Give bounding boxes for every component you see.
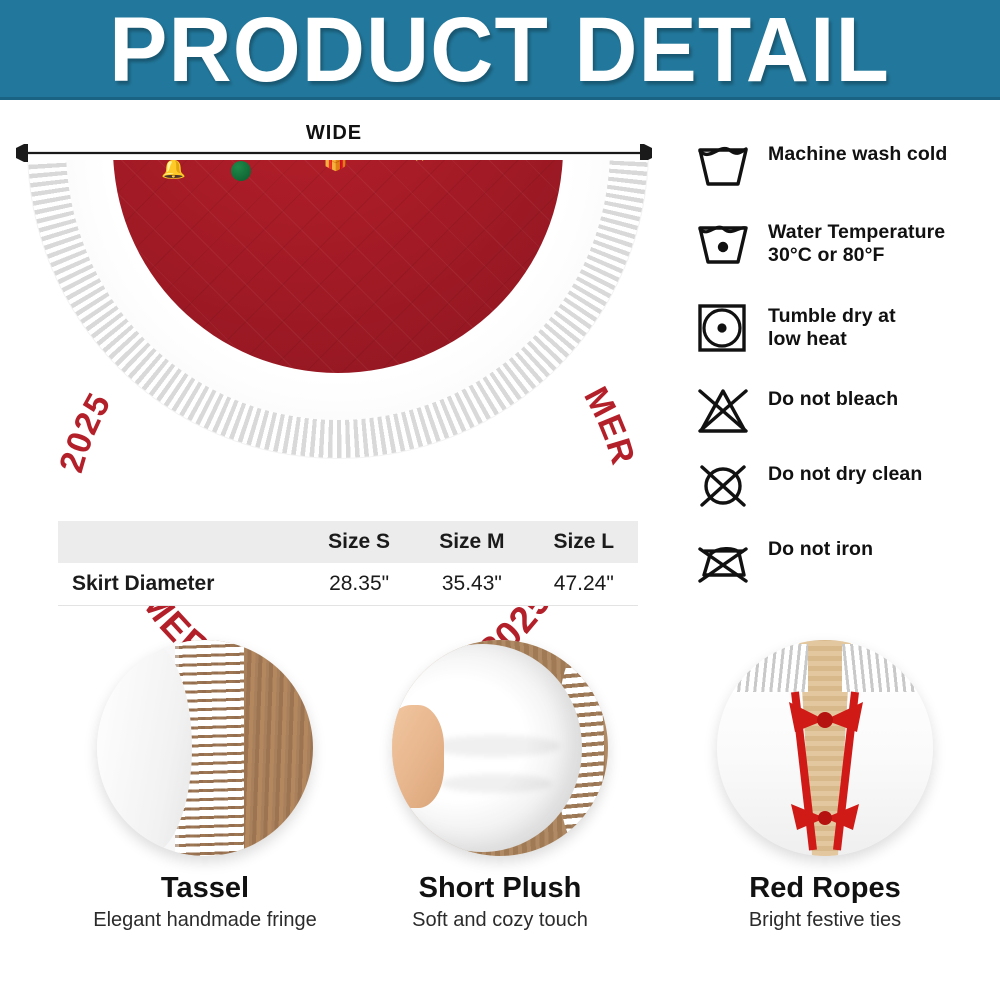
size-table-header: Size S Size M Size L xyxy=(58,521,638,563)
care-label-do-not-bleach: Do not bleach xyxy=(768,385,898,411)
feature-tassel: Tassel Elegant handmade fringe xyxy=(55,640,355,932)
care-item-water-temperature: Water Temperature 30°C or 80°F xyxy=(692,218,945,270)
do-not-iron-icon xyxy=(692,535,754,587)
wide-measurement-label: WIDE xyxy=(0,122,668,145)
care-label-do-not-iron: Do not iron xyxy=(768,535,873,561)
fabric-fold xyxy=(431,735,561,757)
cell-size-m: 35.43" xyxy=(414,563,529,606)
machine-wash-icon xyxy=(692,140,754,192)
care-label-line-2: 30°C or 80°F xyxy=(768,244,945,267)
size-table-body: Skirt Diameter 28.35" 35.43" 47.24" xyxy=(58,563,638,606)
tassel-fringe-photo xyxy=(97,640,313,856)
water-temperature-icon xyxy=(692,218,754,270)
care-item-machine-wash: Machine wash cold xyxy=(692,140,947,192)
cell-size-l: 47.24" xyxy=(530,563,638,606)
gift-box-icon: 🎁 xyxy=(323,160,348,171)
care-label-line-1: Water Temperature xyxy=(768,221,945,244)
plush-fabric-photo xyxy=(392,640,608,856)
size-table-col-size-l: Size L xyxy=(530,521,638,563)
care-label-line-1: Tumble dry at xyxy=(768,305,896,328)
size-table-col-0 xyxy=(58,521,304,563)
page-header-banner: PRODUCT DETAIL xyxy=(0,0,1000,100)
care-item-do-not-bleach: Do not bleach xyxy=(692,385,898,437)
feature-subtitle-short-plush: Soft and cozy touch xyxy=(350,908,650,932)
size-table-col-size-s: Size S xyxy=(304,521,414,563)
red-rope-ribbons xyxy=(717,640,933,856)
care-label-do-not-dry-clean: Do not dry clean xyxy=(768,460,922,486)
bell-icon: 🔔 xyxy=(161,160,186,179)
skirt-red-face: ⭐ ✦ ★ ★ ★ ★ ★ ★ 🎁 🎁 🎁 🔔 🔔 🍬 🍬 xyxy=(113,160,563,373)
care-label-water-temperature: Water Temperature 30°C or 80°F xyxy=(768,218,945,267)
do-not-dry-clean-icon xyxy=(692,460,754,512)
table-row: Skirt Diameter 28.35" 35.43" 47.24" xyxy=(58,563,638,606)
feature-subtitle-red-ropes: Bright festive ties xyxy=(675,908,975,932)
white-fabric xyxy=(97,640,192,856)
feature-red-ropes: Red Ropes Bright festive ties xyxy=(675,640,975,932)
care-item-do-not-dry-clean: Do not dry clean xyxy=(692,460,922,512)
tumble-dry-low-icon xyxy=(692,302,754,354)
care-item-tumble-dry: Tumble dry at low heat xyxy=(692,302,896,354)
care-label-tumble-dry: Tumble dry at low heat xyxy=(768,302,896,351)
green-ornament-icon xyxy=(231,161,251,181)
care-item-do-not-iron: Do not iron xyxy=(692,535,873,587)
red-rope-ties-photo xyxy=(717,640,933,856)
hand-thumb xyxy=(392,705,444,809)
table-header-row: Size S Size M Size L xyxy=(58,521,638,563)
care-label-machine-wash: Machine wash cold xyxy=(768,140,947,166)
do-not-bleach-icon xyxy=(692,385,754,437)
feature-subtitle-tassel: Elegant handmade fringe xyxy=(55,908,355,932)
row-label-skirt-diameter: Skirt Diameter xyxy=(58,563,304,606)
size-table: Size S Size M Size L Skirt Diameter 28.3… xyxy=(58,521,638,606)
care-label-line-2: low heat xyxy=(768,328,896,351)
feature-title-tassel: Tassel xyxy=(55,872,355,904)
santa-hat-dog-face xyxy=(263,160,309,161)
tree-skirt-product-image: ⭐ ✦ ★ ★ ★ ★ ★ ★ 🎁 🎁 🎁 🔔 🔔 🍬 🍬 xyxy=(8,160,668,500)
gold-star-small-icon: ★ xyxy=(413,160,426,164)
cell-size-s: 28.35" xyxy=(304,563,414,606)
size-table-col-size-m: Size M xyxy=(414,521,529,563)
skirt-quilt-texture xyxy=(113,160,563,373)
page-title: PRODUCT DETAIL xyxy=(0,10,1000,88)
feature-title-short-plush: Short Plush xyxy=(350,872,650,904)
page-title-text: PRODUCT DETAIL xyxy=(110,2,891,94)
feature-title-red-ropes: Red Ropes xyxy=(675,872,975,904)
feature-short-plush: Short Plush Soft and cozy touch xyxy=(350,640,650,932)
